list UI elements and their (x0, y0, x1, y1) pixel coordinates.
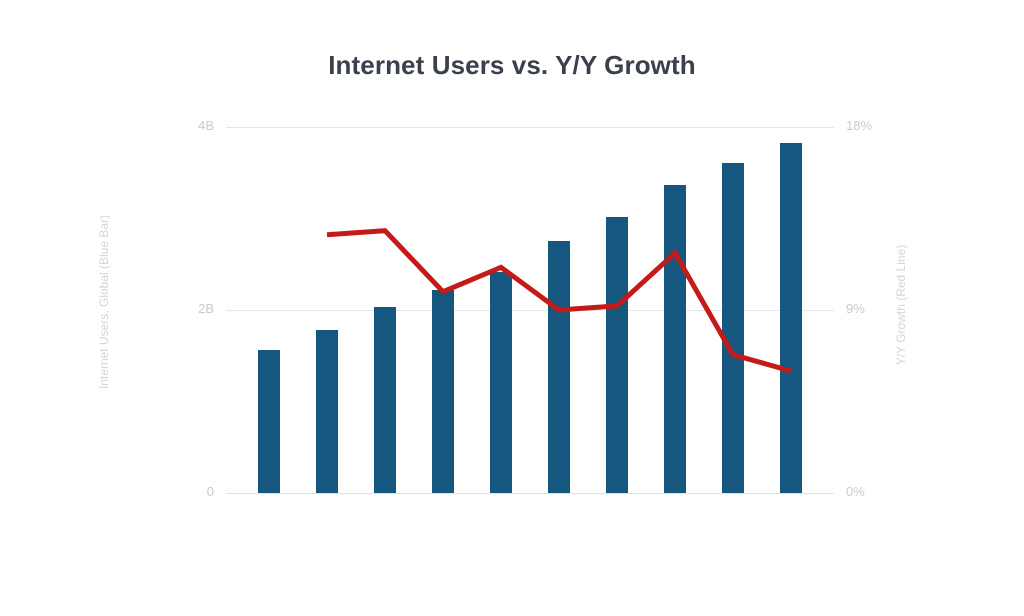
y-axis-left-title: Internet Users, Global (Blue Bar) (97, 192, 111, 412)
plot-area: 02B4B 0%9%18% 20092010201120122013201420… (240, 127, 820, 493)
y-axis-right-tick-label: 18% (846, 118, 906, 133)
y-axis-right-tick-label: 9% (846, 301, 906, 316)
line-series (240, 127, 820, 493)
gridline (226, 493, 834, 494)
y-axis-right-tick-label: 0% (846, 484, 906, 499)
y-axis-left-tick-label: 2B (154, 301, 214, 316)
y-axis-left-tick-label: 4B (154, 118, 214, 133)
growth-line-path (327, 231, 791, 371)
chart-canvas: Internet Users vs. Y/Y Growth Internet U… (0, 0, 1024, 616)
page-title: Internet Users vs. Y/Y Growth (0, 50, 1024, 81)
y-axis-left-tick-label: 0 (154, 484, 214, 499)
